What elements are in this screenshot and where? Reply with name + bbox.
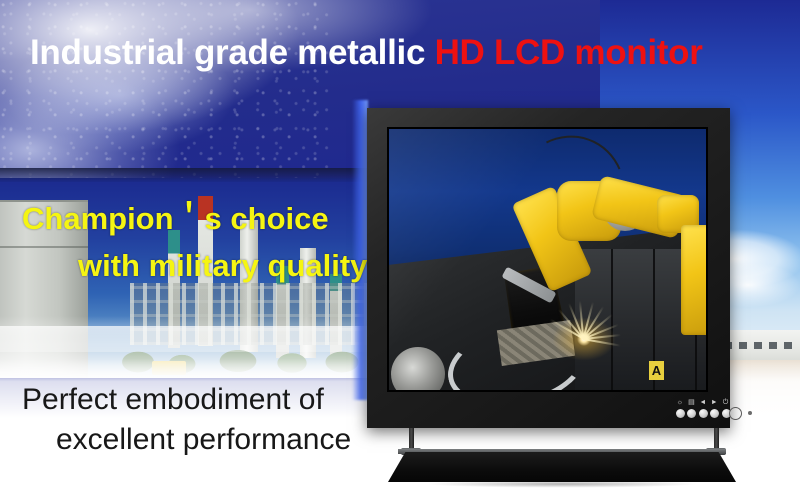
tagline-dark-line-2: excellent performance [56, 423, 351, 457]
osd-button-row [676, 409, 731, 418]
osd-button-right[interactable] [710, 409, 719, 418]
promotional-banner: Industrial grade metallic HD LCD monitor… [0, 0, 800, 499]
menu-icon: ▤ [687, 399, 695, 407]
tagline-yellow-line-2: with military quality [78, 248, 367, 284]
robot-arm-segment [681, 225, 706, 335]
photo-white-band [0, 326, 368, 352]
tagline-yellow-line-1: Champion＇s choice [22, 193, 329, 238]
monitor-bezel-inner: A [387, 127, 708, 392]
osd-button-left[interactable] [699, 409, 708, 418]
headline-red-text: HD LCD monitor [435, 33, 703, 72]
osd-button-brightness[interactable] [676, 409, 685, 418]
right-arrow-icon: ► [710, 399, 718, 407]
base-shadow [380, 480, 744, 488]
power-button-ring[interactable] [729, 407, 742, 420]
page-title: Industrial grade metallic HD LCD monitor [30, 33, 703, 73]
left-arrow-icon: ◄ [699, 399, 707, 407]
power-icon: ⏻ [722, 399, 730, 407]
monitor-screen: A [389, 129, 706, 390]
monitor-base [388, 452, 736, 482]
osd-button-menu[interactable] [687, 409, 696, 418]
screen-label: A [649, 361, 664, 380]
osd-icon-row: ☼ ▤ ◄ ► ⏻ [676, 399, 730, 407]
photo-top-band [0, 168, 368, 182]
tagline-dark-line-1: Perfect embodiment of [22, 383, 324, 417]
power-led-indicator [748, 411, 752, 415]
welding-sparks [539, 305, 629, 375]
lcd-monitor: A [367, 108, 730, 428]
headline-white-text: Industrial grade metallic [30, 33, 425, 72]
brightness-icon: ☼ [676, 399, 684, 407]
